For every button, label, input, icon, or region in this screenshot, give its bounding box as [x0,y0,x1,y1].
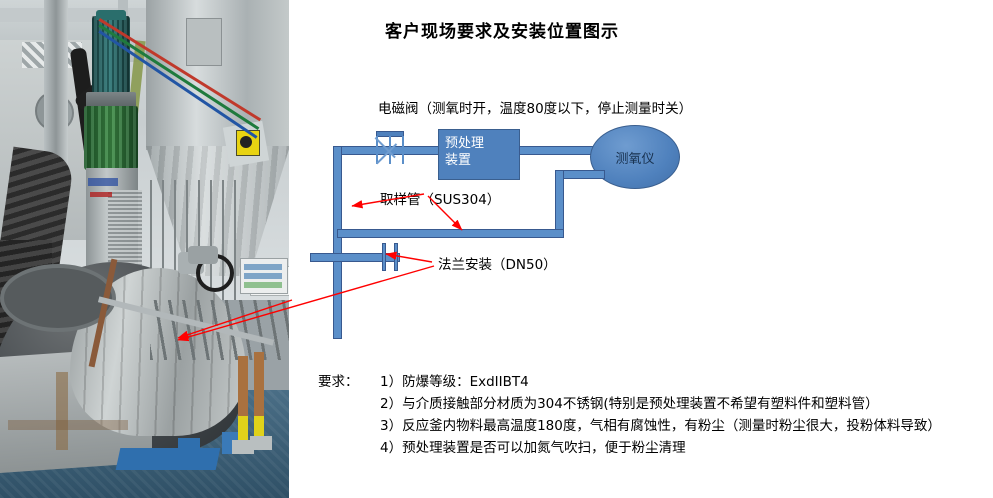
valve-bowtie-lower [376,143,397,164]
requirement-item: 4）预处理装置是否可以加氮气吹扫，便于粉尘清理 [380,437,941,459]
requirement-item: 2）与介质接触部分材质为304不锈钢(特别是预处理装置不希望有塑料件和塑料管） [380,393,941,415]
solenoid-valve-caption: 电磁阀（测氧时开，温度80度以下，停止测量时关） [378,97,692,117]
oxygen-analyzer-label: 测氧仪 [615,148,654,167]
valve-right-post [402,136,404,164]
page-title: 客户现场要求及安装位置图示 [385,17,619,42]
pipe-box-to-analyzer [519,146,601,155]
pretreatment-line-2: 装置 [445,152,519,169]
flange-caption: 法兰安装（DN50） [438,253,557,273]
pretreatment-line-1: 预处理 [445,135,519,152]
flange-face-right [394,243,398,271]
oxygen-analyzer: 测氧仪 [590,125,680,189]
requirement-item: 1）防爆等级：ExdIIBT4 [380,371,941,393]
pretreatment-unit-box: 预处理 装置 [438,129,520,180]
site-photo [0,0,290,498]
solenoid-valve-symbol [373,131,407,164]
sample-pipe-caption: 取样管（SUS304） [380,188,500,208]
diagram-canvas: 客户现场要求及安装位置图示 电磁阀（测氧时开，温度80度以下，停止测量时关） 预… [290,0,993,498]
photo-edge [0,0,290,498]
pipe-analyzer-return-vertical [555,170,564,238]
requirements-list: 1）防爆等级：ExdIIBT4 2）与介质接触部分材质为304不锈钢(特别是预处… [380,371,941,459]
requirement-item: 3）反应釜内物料最高温度180度，气相有腐蚀性，有粉尘（测量时粉尘很大，投粉体料… [380,415,941,437]
flange-face-left [382,243,386,271]
pipe-flange-stub [310,253,400,262]
requirements-label: 要求： [318,371,359,393]
pipe-return-horizontal [337,229,564,238]
pipe-left-riser [333,146,342,339]
